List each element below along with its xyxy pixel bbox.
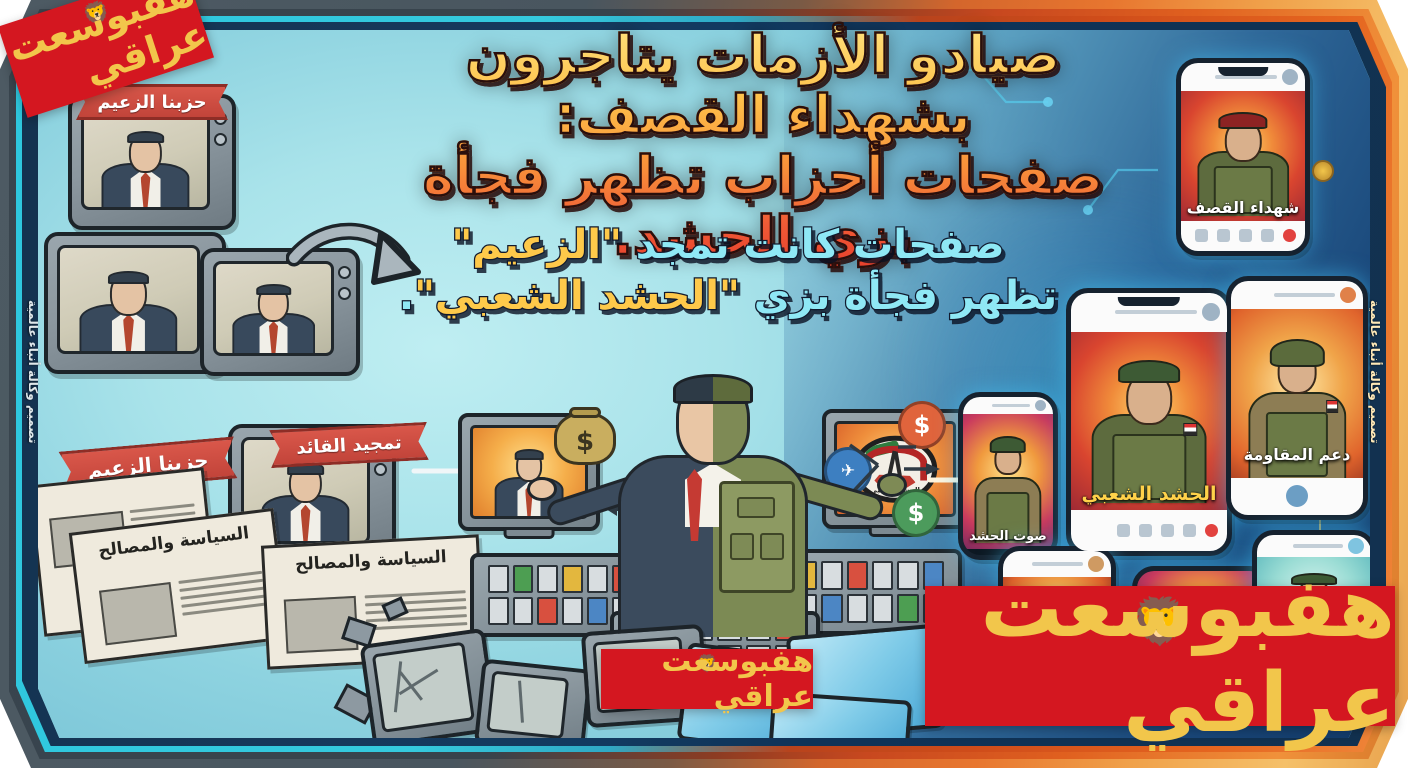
subtitle-line-1: صفحات كانت تمجد "الزعيم": [378, 220, 1078, 271]
figure-hair: [673, 374, 753, 404]
credit-left-vertical: تصميم وكالة أنباء عالمية: [26, 300, 40, 444]
crt-television-middle: [44, 232, 226, 374]
agency-seal-icon: [1312, 160, 1334, 182]
subtitle-quoted-leader: "الزعيم": [452, 222, 622, 268]
broken-tv-icon-2: [474, 658, 592, 738]
subtitle-line-2-text: تظهر فجأة بزي: [740, 273, 1057, 319]
crt-caption-text: حزبنا الزعيم: [97, 92, 206, 113]
phone-post-martyrs-of-bombing[interactable]: شهداء القصف: [1176, 58, 1310, 256]
phone-label-voice: صوت الحشد: [963, 529, 1053, 544]
watermark-bottom-right-text: هفبوسعت عراقي: [925, 561, 1395, 751]
infographic-canvas: حزبنا الزعيم حزبنا الزعيم تمجيد القائد ا…: [0, 0, 1408, 768]
newspaper-title-1: السياسة والمصالح: [85, 521, 262, 562]
subtitle-quoted-hashd: "الحشد الشعبي": [414, 273, 740, 319]
credit-right-vertical: تصميم وكالة أنباء عالمية: [1368, 300, 1382, 444]
phone-label-popular-mobilization: الحشد الشعبي: [1071, 483, 1227, 505]
phone-post-support-resistance[interactable]: دعم المقاومة: [1226, 276, 1368, 520]
phone-post-voice-of-hashd[interactable]: صوت الحشد: [958, 392, 1058, 560]
phone-label-support-resistance: دعم المقاومة: [1231, 445, 1363, 464]
phone-post-popular-mobilization[interactable]: الحشد الشعبي: [1066, 288, 1232, 556]
watermark-bottom-right: 🦁 هفبوسعت عراقي: [925, 586, 1395, 726]
subtitle: صفحات كانت تمجد "الزعيم" تظهر فجأة بزي "…: [378, 220, 1078, 322]
phone-label-martyrs: شهداء القصف: [1181, 198, 1305, 217]
newspaper-title-2: السياسة والمصالح: [277, 546, 464, 576]
subtitle-line-2: تظهر فجأة بزي "الحشد الشعبي".: [378, 271, 1078, 322]
headline-line-1: صيادو الأزمات يتاجرون بشهداء القصف:: [368, 26, 1158, 147]
ribbon-glorify-commander-label: تمجيد القائد: [296, 432, 403, 458]
figure-hand-right: [877, 473, 907, 497]
subtitle-line-1-text: صفحات كانت تمجد: [622, 222, 1005, 268]
newspaper-politics-1: السياسة والمصالح: [69, 508, 290, 664]
subtitle-period: .: [399, 273, 414, 319]
figure-hand-left: [527, 477, 557, 501]
watermark-bottom-center: 🦁 هفبوسعت عراقي: [601, 649, 813, 709]
watermark-bottom-center-text: هفبوسعت عراقي: [601, 644, 813, 714]
figure-tactical-vest-icon: [719, 481, 795, 593]
